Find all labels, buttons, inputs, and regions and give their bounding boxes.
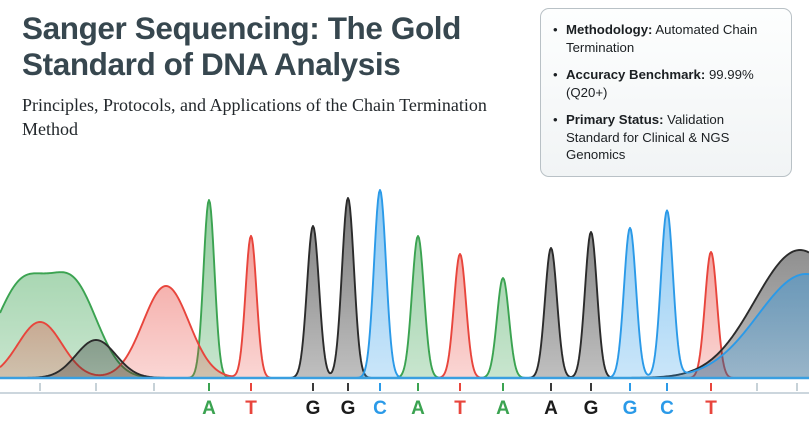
trace-fill-A (0, 200, 809, 378)
axis-tick (153, 383, 155, 391)
axis-tick-base (379, 383, 381, 391)
axis-tick (39, 383, 41, 391)
axis-tick-base (417, 383, 419, 391)
page-title: Sanger Sequencing: The Gold Standard of … (22, 10, 522, 82)
base-call-letter: A (544, 396, 558, 422)
axis-line (0, 392, 809, 394)
bullet-icon: • (553, 111, 558, 129)
axis-tick-base (590, 383, 592, 391)
bullet-icon: • (553, 66, 558, 84)
trace-line-C (0, 190, 809, 378)
base-call-letter: G (341, 396, 356, 422)
axis-tick-base (550, 383, 552, 391)
bullet-icon: • (553, 21, 558, 39)
base-call-letter: C (660, 396, 674, 422)
info-item-label: Primary Status: (566, 112, 663, 127)
info-item-label: Accuracy Benchmark: (566, 67, 705, 82)
base-call-letter: T (245, 396, 257, 422)
base-call-row: ATGGCATAAGGCT (0, 396, 809, 427)
info-item-accuracy-benchmark: • Accuracy Benchmark: 99.99% (Q20+) (551, 66, 779, 101)
trace-line-T (0, 236, 809, 378)
base-call-letter: A (202, 396, 216, 422)
axis-tick (756, 383, 758, 391)
header-block: Sanger Sequencing: The Gold Standard of … (22, 10, 522, 141)
trace-fill-T (0, 236, 809, 378)
axis-tick-base (312, 383, 314, 391)
info-item-label: Methodology: (566, 22, 652, 37)
info-box: • Methodology: Automated Chain Terminati… (540, 8, 792, 177)
axis-tick-base (629, 383, 631, 391)
base-call-letter: C (373, 396, 387, 422)
sanger-sequencing-poster: Sanger Sequencing: The Gold Standard of … (0, 0, 809, 427)
trace-fill-C (0, 190, 809, 378)
base-call-letter: T (454, 396, 466, 422)
page-subtitle: Principles, Protocols, and Applications … (22, 93, 522, 141)
chromatogram-svg (0, 165, 809, 383)
base-call-letter: A (411, 396, 425, 422)
axis-tick-base (502, 383, 504, 391)
base-call-letter: A (496, 396, 510, 422)
info-item-primary-status: • Primary Status: Validation Standard fo… (551, 111, 779, 164)
axis-tick-base (250, 383, 252, 391)
chromatogram-trace (0, 165, 809, 383)
base-call-letter: G (306, 396, 321, 422)
tick-axis (0, 380, 809, 394)
base-call-letter: G (623, 396, 638, 422)
axis-tick-base (666, 383, 668, 391)
trace-line-G (0, 198, 809, 378)
base-call-letter: G (584, 396, 599, 422)
axis-tick-base (347, 383, 349, 391)
axis-tick-base (459, 383, 461, 391)
info-list: • Methodology: Automated Chain Terminati… (551, 21, 779, 164)
trace-fill-G (0, 198, 809, 378)
info-item-methodology: • Methodology: Automated Chain Terminati… (551, 21, 779, 56)
axis-tick-base (208, 383, 210, 391)
trace-layers (0, 190, 809, 378)
base-call-letter: T (705, 396, 717, 422)
axis-tick-base (710, 383, 712, 391)
axis-tick (95, 383, 97, 391)
axis-tick (796, 383, 798, 391)
trace-line-A (0, 200, 809, 378)
